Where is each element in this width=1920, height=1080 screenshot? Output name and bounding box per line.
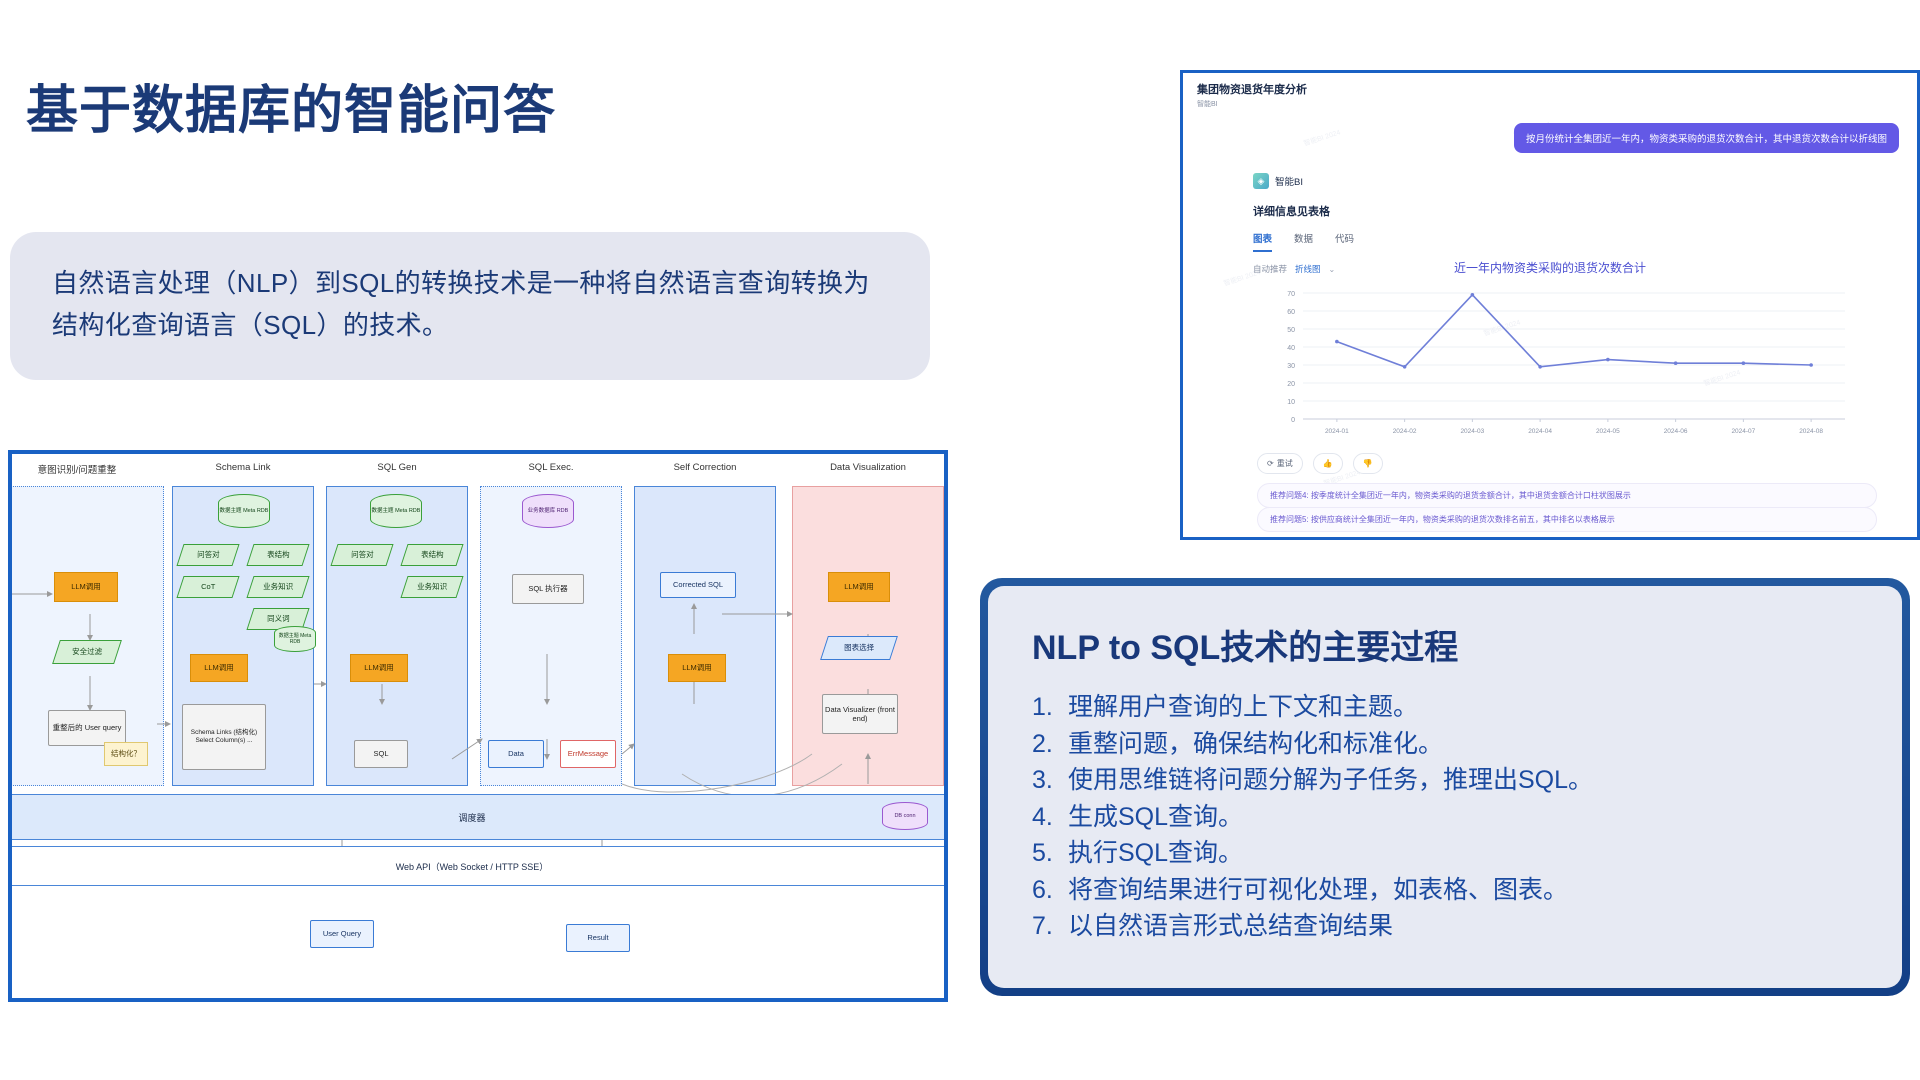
process-step-number: 4.: [1032, 799, 1058, 836]
stage-label-sql-gen: SQL Gen: [322, 462, 472, 473]
process-step: 5.执行SQL查询。: [1032, 835, 1858, 872]
line-chart: 0102030405060702024-012024-022024-032024…: [1257, 285, 1857, 445]
node-biz-knowledge-2: 业务知识: [400, 576, 463, 598]
process-step: 1.理解用户查询的上下文和主题。: [1032, 689, 1858, 726]
process-step-text: 理解用户查询的上下文和主题。: [1068, 689, 1418, 726]
svg-text:2024-07: 2024-07: [1731, 428, 1755, 435]
band-scheduler: 调度器: [8, 794, 948, 840]
suggested-question-5[interactable]: 推荐问题5: 按供应商统计全集团近一年内，物资类采购的退货次数排名前五，其中排名…: [1257, 507, 1877, 532]
node-db-conn: DB conn: [882, 802, 928, 830]
result-tabs: 图表 数据 代码: [1253, 231, 1354, 252]
node-sql-executor: SQL 执行器: [512, 574, 584, 604]
node-llm-call-5: LLM调用: [828, 572, 890, 602]
node-qa-pair-1: 问答对: [176, 544, 239, 566]
node-meta-rdb-2: 数据主题 Meta RDB: [370, 494, 422, 528]
node-biz-knowledge-1: 业务知识: [246, 576, 309, 598]
process-step-text: 将查询结果进行可视化处理，如表格、图表。: [1068, 872, 1568, 909]
node-biz-db: 业务数据库 RDB: [522, 494, 574, 528]
node-rewritten-query: 重整后的 User query: [48, 710, 126, 746]
svg-text:70: 70: [1287, 291, 1295, 298]
node-sql: SQL: [354, 740, 408, 768]
svg-text:10: 10: [1287, 399, 1295, 406]
band-web-api: Web API（Web Socket / HTTP SSE）: [8, 846, 948, 886]
svg-text:20: 20: [1287, 381, 1295, 388]
node-table-schema-2: 表结构: [400, 544, 463, 566]
node-corrected-sql: Corrected SQL: [660, 572, 736, 598]
process-step: 4.生成SQL查询。: [1032, 799, 1858, 836]
svg-text:2024-08: 2024-08: [1799, 428, 1823, 435]
intro-callout: 自然语言处理（NLP）到SQL的转换技术是一种将自然语言查询转换为结构化查询语言…: [10, 232, 930, 380]
stage-label-intent: 意图识别/问题重整: [8, 462, 172, 476]
process-step-text: 使用思维链将问题分解为子任务，推理出SQL。: [1068, 762, 1593, 799]
process-step-text: 重整问题，确保结构化和标准化。: [1068, 726, 1443, 763]
feedback-row: ⟳ 重试 👍 👎: [1257, 453, 1383, 474]
screenshot-subtitle: 智能BI: [1197, 99, 1307, 109]
stage-label-data-viz: Data Visualization: [788, 462, 948, 473]
node-data-visualizer: Data Visualizer (front end): [822, 694, 898, 734]
node-err-message: ErrMessage: [560, 740, 616, 768]
node-vector-db: 数据主题 Meta RDB: [274, 626, 316, 652]
node-llm-call-1: LLM调用: [54, 572, 118, 602]
assistant-badge: ◈ 智能BI: [1253, 173, 1303, 189]
page-title: 基于数据库的智能问答: [26, 68, 556, 143]
tab-data[interactable]: 数据: [1294, 231, 1313, 252]
node-llm-call-4: LLM调用: [668, 654, 726, 682]
screenshot-header: 集团物资退货年度分析 智能BI: [1197, 81, 1307, 109]
pipeline-stages: 意图识别/问题重整 Schema Link SQL Gen SQL Exec. …: [8, 460, 948, 790]
node-chart-select: 图表选择: [820, 636, 898, 660]
refresh-icon: ⟳: [1267, 459, 1274, 468]
assistant-name: 智能BI: [1275, 174, 1303, 188]
process-step-text: 以自然语言形式总结查询结果: [1068, 908, 1393, 945]
process-step-list: 1.理解用户查询的上下文和主题。2.重整问题，确保结构化和标准化。3.使用思维链…: [1032, 689, 1858, 945]
answer-title: 详细信息见表格: [1253, 203, 1330, 219]
tab-chart[interactable]: 图表: [1253, 231, 1272, 252]
node-table-schema-1: 表结构: [246, 544, 309, 566]
process-step-number: 7.: [1032, 908, 1058, 945]
architecture-diagram-panel: 意图识别/问题重整 Schema Link SQL Gen SQL Exec. …: [8, 450, 948, 1002]
user-message-bubble: 按月份统计全集团近一年内，物资类采购的退货次数合计，其中退货次数合计以折线图: [1514, 123, 1899, 153]
suggested-question-4[interactable]: 推荐问题4: 按季度统计全集团近一年内，物资类采购的退货金额合计，其中退货金额合…: [1257, 483, 1877, 508]
intro-text: 自然语言处理（NLP）到SQL的转换技术是一种将自然语言查询转换为结构化查询语言…: [52, 262, 892, 346]
svg-text:40: 40: [1287, 345, 1295, 352]
product-screenshot-panel: 智能BI 2024 智能BI 2024 智能BI 2024 智能BI 2024 …: [1180, 70, 1920, 540]
svg-text:50: 50: [1287, 327, 1295, 334]
stage-label-sql-exec: SQL Exec.: [476, 462, 626, 473]
node-safety-filter: 安全过滤: [52, 640, 122, 664]
thumbs-down-icon: 👎: [1363, 459, 1373, 468]
chart-title: 近一年内物资类采购的退货次数合计: [1183, 259, 1917, 276]
node-structured-note: 结构化？: [104, 742, 148, 766]
svg-text:2024-03: 2024-03: [1460, 428, 1484, 435]
process-step-number: 3.: [1032, 762, 1058, 799]
watermark: 智能BI 2024: [1302, 127, 1341, 148]
stage-label-schema-link: Schema Link: [168, 462, 318, 473]
process-step-number: 5.: [1032, 835, 1058, 872]
node-llm-call-3: LLM调用: [350, 654, 408, 682]
process-card-title: NLP to SQL技术的主要过程: [1032, 620, 1858, 669]
stage-self-correction: [634, 486, 776, 786]
node-result: Result: [566, 924, 630, 952]
thumbs-down-button[interactable]: 👎: [1353, 453, 1383, 474]
svg-text:2024-01: 2024-01: [1325, 428, 1349, 435]
node-data: Data: [488, 740, 544, 768]
node-meta-rdb-1: 数据主题 Meta RDB: [218, 494, 270, 528]
process-step: 3.使用思维链将问题分解为子任务，推理出SQL。: [1032, 762, 1858, 799]
process-step: 7.以自然语言形式总结查询结果: [1032, 908, 1858, 945]
node-cot: CoT: [176, 576, 239, 598]
svg-text:30: 30: [1287, 363, 1295, 370]
thumbs-up-button[interactable]: 👍: [1313, 453, 1343, 474]
node-llm-call-2: LLM调用: [190, 654, 248, 682]
node-user-query: User Query: [310, 920, 374, 948]
slide-root: 基于数据库的智能问答 自然语言处理（NLP）到SQL的转换技术是一种将自然语言查…: [0, 0, 1920, 1080]
svg-text:2024-06: 2024-06: [1664, 428, 1688, 435]
robot-icon: ◈: [1253, 173, 1269, 189]
svg-text:60: 60: [1287, 309, 1295, 316]
thumbs-up-icon: 👍: [1323, 459, 1333, 468]
retry-label: 重试: [1277, 458, 1293, 469]
process-card: NLP to SQL技术的主要过程 1.理解用户查询的上下文和主题。2.重整问题…: [980, 578, 1910, 996]
svg-text:2024-05: 2024-05: [1596, 428, 1620, 435]
screenshot-title: 集团物资退货年度分析: [1197, 81, 1307, 97]
svg-text:0: 0: [1291, 417, 1295, 424]
svg-text:2024-02: 2024-02: [1393, 428, 1417, 435]
process-step-text: 执行SQL查询。: [1068, 835, 1243, 872]
process-step: 2.重整问题，确保结构化和标准化。: [1032, 726, 1858, 763]
svg-text:2024-04: 2024-04: [1528, 428, 1552, 435]
process-step-number: 2.: [1032, 726, 1058, 763]
process-step-number: 1.: [1032, 689, 1058, 726]
tab-code[interactable]: 代码: [1335, 231, 1354, 252]
node-qa-pair-2: 问答对: [330, 544, 393, 566]
node-schema-links: Schema Links (结构化) Select Column(s) ...: [182, 704, 266, 770]
process-step: 6.将查询结果进行可视化处理，如表格、图表。: [1032, 872, 1858, 909]
process-step-text: 生成SQL查询。: [1068, 799, 1243, 836]
process-step-number: 6.: [1032, 872, 1058, 909]
stage-label-self-correction: Self Correction: [630, 462, 780, 473]
retry-button[interactable]: ⟳ 重试: [1257, 453, 1303, 474]
